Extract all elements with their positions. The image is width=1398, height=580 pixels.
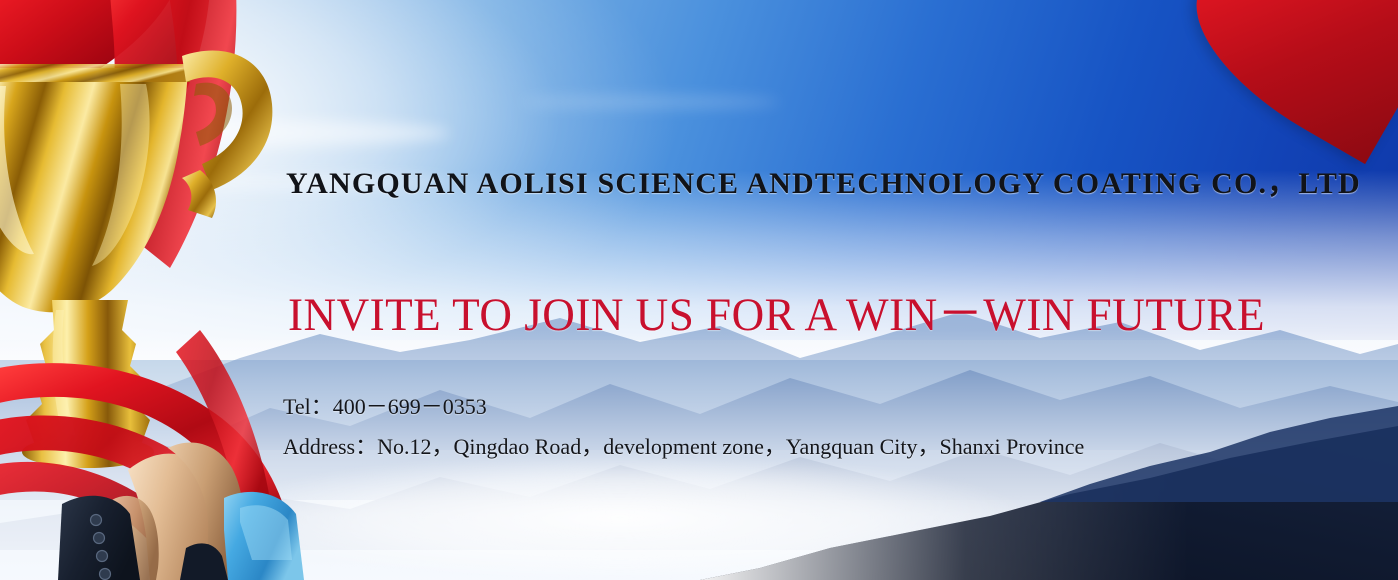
promotional-banner: YANGQUAN AOLISI SCIENCE ANDTECHNOLOGY CO… bbox=[0, 0, 1398, 580]
page-title: YANGQUAN AOLISI SCIENCE ANDTECHNOLOGY CO… bbox=[286, 158, 1361, 202]
contact-telephone: Tel：400－699－0353 bbox=[283, 389, 487, 421]
headline-slogan: INVITE TO JOIN US FOR A WIN－WIN FUTURE bbox=[288, 275, 1265, 344]
contact-address: Address：No.12，Qingdao Road，development z… bbox=[283, 429, 1084, 461]
text-layer: YANGQUAN AOLISI SCIENCE ANDTECHNOLOGY CO… bbox=[0, 0, 1398, 580]
